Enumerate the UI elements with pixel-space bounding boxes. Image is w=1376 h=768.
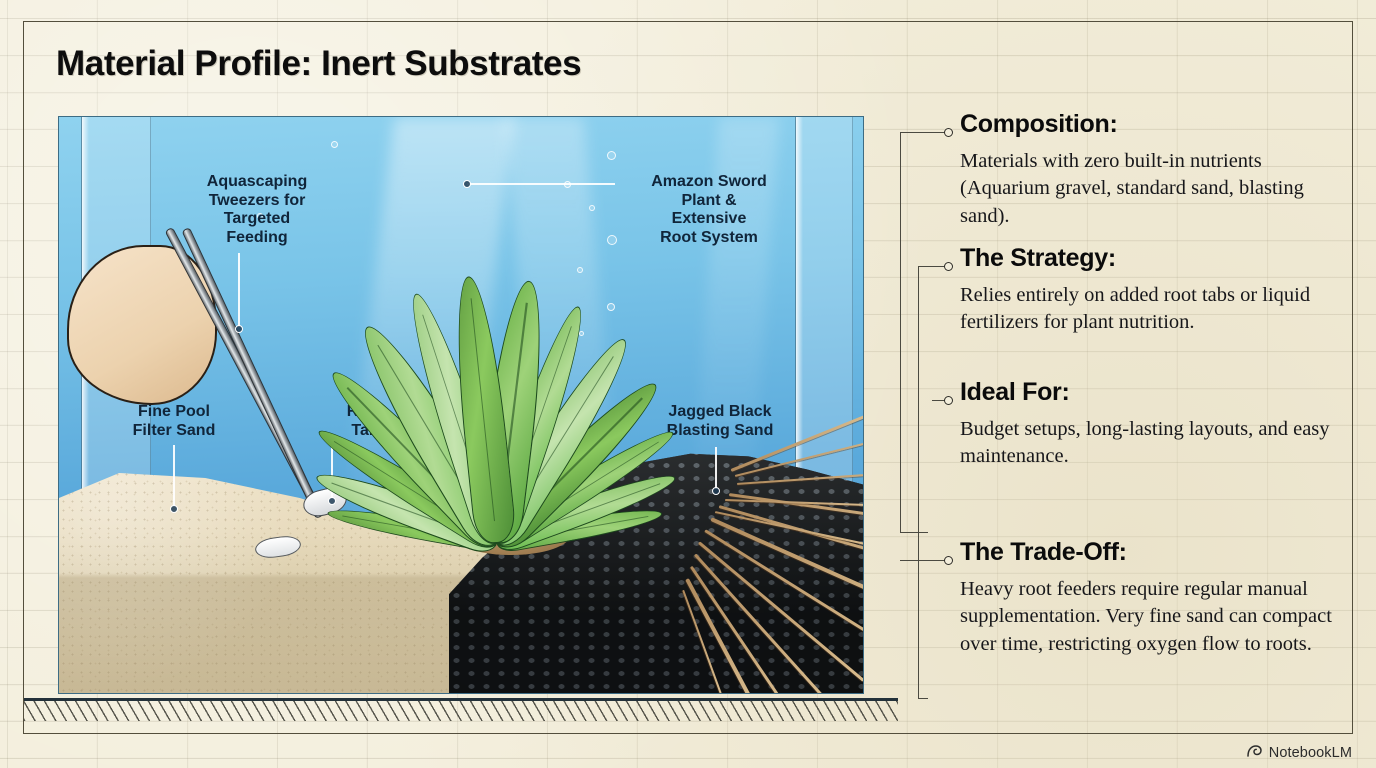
- panel-section-trade-off: The Trade-Off: Heavy root feeders requir…: [960, 538, 1352, 658]
- section-body: Materials with zero built-in nutrients (…: [960, 148, 1352, 230]
- leader-line: [238, 253, 240, 327]
- section-heading: Ideal For:: [960, 378, 1352, 407]
- leader-endpoint: [235, 325, 243, 333]
- leader-line: [173, 445, 175, 507]
- section-body: Relies entirely on added root tabs or li…: [960, 282, 1352, 337]
- section-heading: The Strategy:: [960, 244, 1352, 273]
- illus-label-amazon-sword: Amazon Sword Plant & Extensive Root Syst…: [619, 173, 799, 247]
- leader-line: [715, 447, 717, 489]
- notebooklm-watermark: NotebookLM: [1246, 744, 1352, 762]
- marker-ideal-for: [944, 396, 953, 405]
- section-body: Heavy root feeders require regular manua…: [960, 576, 1352, 658]
- bubble: [607, 303, 615, 311]
- illus-label-pool-filter-sand: Fine Pool Filter Sand: [99, 403, 249, 440]
- section-heading: The Trade-Off:: [960, 538, 1352, 567]
- bubble: [331, 141, 338, 148]
- panel-section-strategy: The Strategy: Relies entirely on added r…: [960, 244, 1352, 337]
- notebooklm-label: NotebookLM: [1269, 745, 1352, 761]
- section-body: Budget setups, long-lasting layouts, and…: [960, 416, 1352, 471]
- aquarium-illustration: Aquascaping Tweezers for Targeted Feedin…: [58, 116, 864, 694]
- ground-hatching: [24, 701, 898, 721]
- marker-trade-off: [944, 556, 953, 565]
- bubble: [577, 267, 583, 273]
- infographic-page: Material Profile: Inert Substrates: [0, 0, 1376, 768]
- page-title: Material Profile: Inert Substrates: [56, 44, 581, 84]
- marker-composition: [944, 128, 953, 137]
- bubble: [607, 235, 617, 245]
- leader-endpoint: [463, 180, 471, 188]
- leader-endpoint: [712, 487, 720, 495]
- leader-endpoint: [170, 505, 178, 513]
- leader-line: [467, 183, 615, 185]
- section-heading: Composition:: [960, 110, 1352, 139]
- notebooklm-spiral-icon: [1246, 744, 1263, 762]
- bubble: [579, 331, 584, 336]
- bubble: [589, 205, 595, 211]
- marker-strategy: [944, 262, 953, 271]
- panel-section-composition: Composition: Materials with zero built-i…: [960, 110, 1352, 230]
- leader-endpoint: [328, 497, 336, 505]
- panel-section-ideal-for: Ideal For: Budget setups, long-lasting l…: [960, 378, 1352, 471]
- illus-label-tweezers: Aquascaping Tweezers for Targeted Feedin…: [167, 173, 347, 247]
- bubble: [607, 151, 616, 160]
